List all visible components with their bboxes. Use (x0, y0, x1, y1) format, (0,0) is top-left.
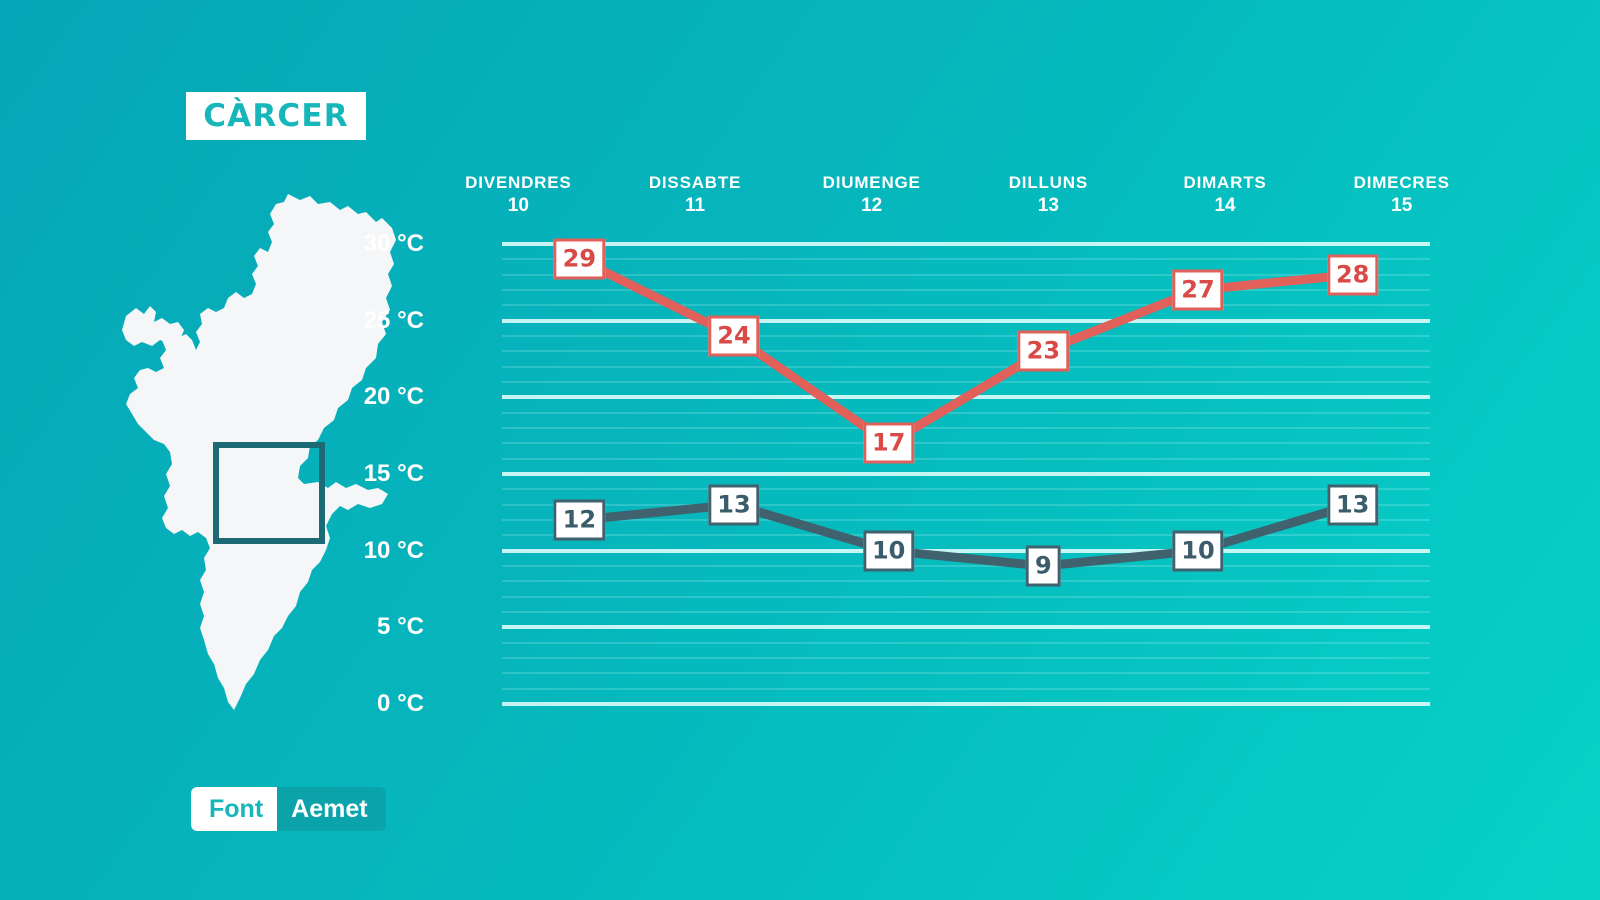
y-axis-tick-label: 0 °C (377, 690, 424, 718)
northwest-enclave-shape (122, 306, 184, 346)
min-temp-label: 13 (1327, 484, 1378, 525)
day-column-header: DIUMENGE 12 (783, 172, 960, 228)
max-temp-label: 29 (554, 239, 605, 280)
day-name: DILLUNS (960, 172, 1137, 194)
min-temp-label: 13 (708, 484, 759, 525)
day-number: 10 (430, 194, 607, 218)
day-number: 11 (607, 194, 784, 218)
day-column-header: DISSABTE 11 (607, 172, 784, 228)
max-temp-label: 23 (1018, 331, 1069, 372)
day-number: 13 (960, 194, 1137, 218)
y-axis-tick-label: 30 °C (364, 230, 424, 258)
min-temp-label: 10 (1172, 530, 1223, 571)
day-name: DISSABTE (607, 172, 784, 194)
day-number: 14 (1137, 194, 1314, 218)
day-name: DIUMENGE (783, 172, 960, 194)
max-temp-label: 28 (1327, 254, 1378, 295)
min-temp-label: 10 (863, 530, 914, 571)
source-badge: Font Aemet (191, 787, 386, 831)
min-temp-label: 12 (554, 500, 605, 541)
series-lines (430, 234, 1490, 704)
day-name: DIVENDRES (430, 172, 607, 194)
day-name: DIMARTS (1137, 172, 1314, 194)
temperature-chart: DIVENDRES 10 DISSABTE 11 DIUMENGE 12 DIL… (430, 172, 1490, 732)
y-axis-tick-label: 20 °C (364, 383, 424, 411)
max-temp-label: 27 (1172, 270, 1223, 311)
y-axis-tick-label: 15 °C (364, 460, 424, 488)
y-axis-tick-label: 5 °C (377, 613, 424, 641)
max-temp-label: 24 (708, 316, 759, 357)
day-column-header: DIMECRES 15 (1313, 172, 1490, 228)
day-name: DIMECRES (1313, 172, 1490, 194)
y-axis-tick-label: 25 °C (364, 307, 424, 335)
plot-area: 29241723272812131091013 (430, 234, 1490, 704)
location-title-badge: CÀRCER (186, 92, 366, 140)
day-column-header: DIVENDRES 10 (430, 172, 607, 228)
day-number: 12 (783, 194, 960, 218)
y-axis-tick-label: 10 °C (364, 537, 424, 565)
max-temperature-line (579, 259, 1352, 443)
day-header-row: DIVENDRES 10 DISSABTE 11 DIUMENGE 12 DIL… (430, 172, 1490, 228)
day-number: 15 (1313, 194, 1490, 218)
day-column-header: DIMARTS 14 (1137, 172, 1314, 228)
source-provider: Aemet (277, 787, 385, 831)
min-temperature-line (579, 505, 1352, 566)
page-title: CÀRCER (203, 98, 349, 134)
min-temp-label: 9 (1026, 546, 1061, 587)
weather-forecast-infographic: CÀRCER Font Aemet DIVENDRES 10 DISSABTE … (0, 0, 1600, 900)
max-temp-label: 17 (863, 423, 914, 464)
source-label: Font (191, 787, 277, 831)
y-axis-labels: 0 °C5 °C10 °C15 °C20 °C25 °C30 °C (300, 234, 424, 704)
day-column-header: DILLUNS 13 (960, 172, 1137, 228)
